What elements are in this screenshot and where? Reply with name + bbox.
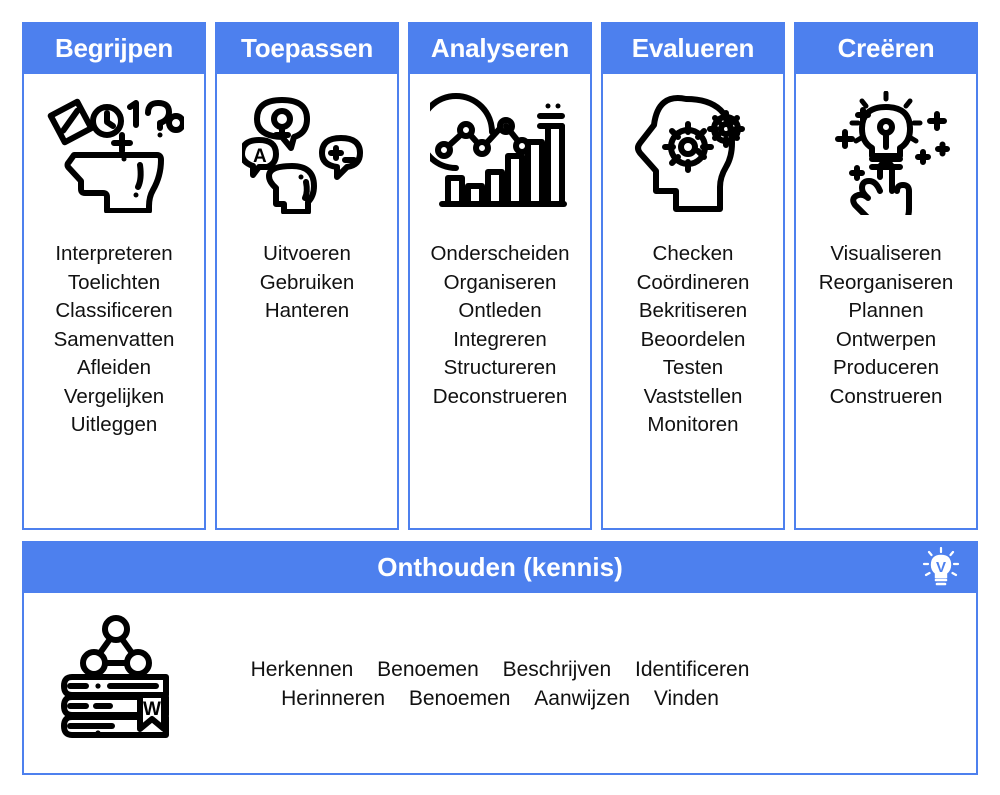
head-with-symbols-icon — [44, 88, 184, 218]
hand-pointing-lightbulb-icon — [818, 88, 954, 218]
bottom-word-lines: Herkennen Benoemen Beschrijven Identific… — [194, 609, 956, 713]
list-item: Gebruiken — [217, 269, 397, 298]
books-with-nodes-icon: W — [44, 609, 194, 739]
taxonomy-base-onthouden: Onthouden (kennis) V — [22, 541, 978, 775]
list-item: Beoordelen — [603, 326, 783, 355]
list-item: Produceren — [796, 354, 976, 383]
bottom-word: Aanwijzen — [534, 687, 630, 710]
taxonomy-column-toepassen: Toepassen A — [215, 22, 399, 530]
column-list-analyseren: Onderscheiden Organiseren Ontleden Integ… — [410, 240, 590, 411]
taxonomy-columns: Begrijpen — [22, 22, 978, 530]
list-item: Classificeren — [24, 297, 204, 326]
bottom-word: Beschrijven — [503, 658, 612, 681]
list-item: Coördineren — [603, 269, 783, 298]
list-item: Ontleden — [410, 297, 590, 326]
column-body-begrijpen: Interpreteren Toelichten Classificeren S… — [22, 74, 206, 530]
list-item: Reorganiseren — [796, 269, 976, 298]
head-with-gears-icon — [626, 88, 760, 218]
list-item: Ontwerpen — [796, 326, 976, 355]
bottom-header: Onthouden (kennis) V — [22, 541, 978, 593]
list-item: Uitvoeren — [217, 240, 397, 269]
bloom-taxonomy-diagram: Begrijpen — [0, 0, 1000, 795]
column-list-begrijpen: Interpreteren Toelichten Classificeren S… — [24, 240, 204, 440]
column-list-creeren: Visualiseren Reorganiseren Plannen Ontwe… — [796, 240, 976, 411]
list-item: Deconstrueren — [410, 383, 590, 412]
taxonomy-column-evalueren: Evalueren — [601, 22, 785, 530]
column-header-analyseren: Analyseren — [408, 22, 592, 74]
list-item: Bekritiseren — [603, 297, 783, 326]
list-item: Visualiseren — [796, 240, 976, 269]
list-item: Hanteren — [217, 297, 397, 326]
list-item: Checken — [603, 240, 783, 269]
list-item: Afleiden — [24, 354, 204, 383]
taxonomy-column-creeren: Creëren Visualiseren Reorganisere — [794, 22, 978, 530]
list-item: Testen — [603, 354, 783, 383]
column-body-analyseren: Onderscheiden Organiseren Ontleden Integ… — [408, 74, 592, 530]
list-item: Integreren — [410, 326, 590, 355]
list-item: Toelichten — [24, 269, 204, 298]
bottom-word-line-1: Herkennen Benoemen Beschrijven Identific… — [194, 655, 806, 684]
bottom-word: Benoemen — [409, 687, 511, 710]
column-list-toepassen: Uitvoeren Gebruiken Hanteren — [217, 240, 397, 326]
column-header-toepassen: Toepassen — [215, 22, 399, 74]
taxonomy-column-begrijpen: Begrijpen — [22, 22, 206, 530]
column-list-evalueren: Checken Coördineren Bekritiseren Beoorde… — [603, 240, 783, 440]
head-with-speech-bubbles-icon: A — [242, 88, 372, 218]
svg-text:V: V — [936, 559, 946, 576]
bottom-word-line-2: Herinneren Benoemen Aanwijzen Vinden — [194, 684, 806, 713]
bottom-word: Herkennen — [251, 658, 354, 681]
column-header-creeren: Creëren — [794, 22, 978, 74]
list-item: Vaststellen — [603, 383, 783, 412]
list-item: Structureren — [410, 354, 590, 383]
list-item: Onderscheiden — [410, 240, 590, 269]
column-body-toepassen: A Uitvoeren Gebruiken Hanteren — [215, 74, 399, 530]
column-header-evalueren: Evalueren — [601, 22, 785, 74]
list-item: Samenvatten — [24, 326, 204, 355]
bar-chart-line-graph-icon — [430, 88, 570, 218]
bottom-word: Herinneren — [281, 687, 385, 710]
list-item: Uitleggen — [24, 411, 204, 440]
bottom-word: Vinden — [654, 687, 719, 710]
bottom-body: W Herkennen Benoemen Beschrijven Identif… — [22, 593, 978, 775]
list-item: Construeren — [796, 383, 976, 412]
list-item: Vergelijken — [24, 383, 204, 412]
column-header-begrijpen: Begrijpen — [22, 22, 206, 74]
bottom-header-label: Onthouden (kennis) — [377, 552, 623, 582]
list-item: Plannen — [796, 297, 976, 326]
column-body-evalueren: Checken Coördineren Bekritiseren Beoorde… — [601, 74, 785, 530]
bottom-word: Identificeren — [635, 658, 749, 681]
svg-text:A: A — [253, 146, 267, 167]
lightbulb-v-icon: V — [922, 547, 960, 587]
list-item: Interpreteren — [24, 240, 204, 269]
column-body-creeren: Visualiseren Reorganiseren Plannen Ontwe… — [794, 74, 978, 530]
bottom-word: Benoemen — [377, 658, 479, 681]
svg-text:W: W — [143, 699, 161, 720]
list-item: Organiseren — [410, 269, 590, 298]
list-item: Monitoren — [603, 411, 783, 440]
taxonomy-column-analyseren: Analyseren — [408, 22, 592, 530]
